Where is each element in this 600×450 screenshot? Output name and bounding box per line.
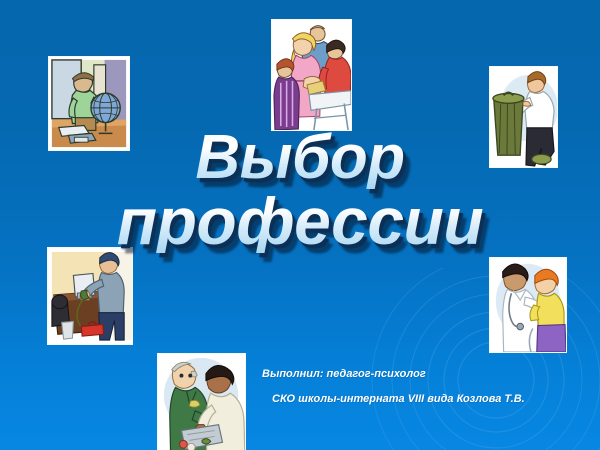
clipart-doctor-examining-child	[489, 257, 567, 353]
clipart-sanitation-worker-with-bin	[489, 66, 558, 168]
title-line-2: профессии	[0, 189, 600, 254]
clipart-people-meeting-at-table	[271, 19, 352, 131]
subtitle-line-school-name: СКО школы-интерната VIII вида Козлова Т.…	[272, 393, 598, 406]
clipart-nurse-with-elderly-patient	[157, 353, 246, 450]
clipart-teacher-with-globe	[48, 56, 130, 151]
slide-subtitle: Выполнил: педагог-психолог СКО школы-инт…	[262, 368, 598, 405]
subtitle-line-author-role: Выполнил: педагог-психолог	[262, 368, 598, 381]
clipart-technician-repairing-equipment	[47, 247, 133, 345]
presentation-slide: Выбор профессии Выполнил: педагог-психол…	[0, 0, 600, 450]
